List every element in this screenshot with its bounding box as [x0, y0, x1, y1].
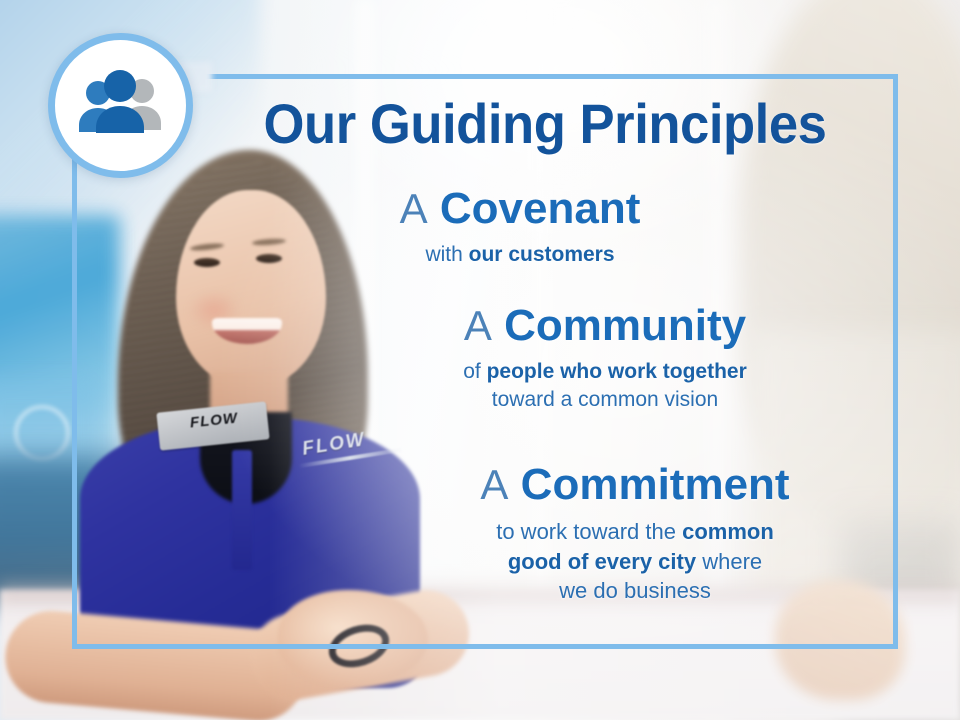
- principle-article: A: [464, 302, 492, 349]
- text-content: Our Guiding Principles A Covenant with o…: [0, 0, 960, 720]
- principle-lead: A Community: [330, 303, 880, 348]
- principle-article: A: [400, 185, 428, 232]
- principle-subtext: of people who work togethertoward a comm…: [330, 358, 880, 414]
- principle-commitment: A Commitment to work toward the commongo…: [355, 462, 915, 606]
- principle-community: A Community of people who work togethert…: [330, 303, 880, 415]
- principle-lead: A Commitment: [355, 462, 915, 507]
- principle-keyword: Community: [504, 301, 746, 350]
- principle-subtext: with our customers: [275, 241, 765, 269]
- page-title: Our Guiding Principles: [225, 96, 864, 152]
- principle-keyword: Commitment: [521, 460, 790, 509]
- principle-lead: A Covenant: [275, 186, 765, 231]
- banner-canvas: FLOW FLOW Our Guiding Principles: [0, 0, 960, 720]
- principle-subtext: to work toward the commongood of every c…: [355, 517, 915, 605]
- principle-covenant: A Covenant with our customers: [275, 186, 765, 269]
- principle-article: A: [480, 461, 508, 508]
- principle-keyword: Covenant: [440, 184, 640, 233]
